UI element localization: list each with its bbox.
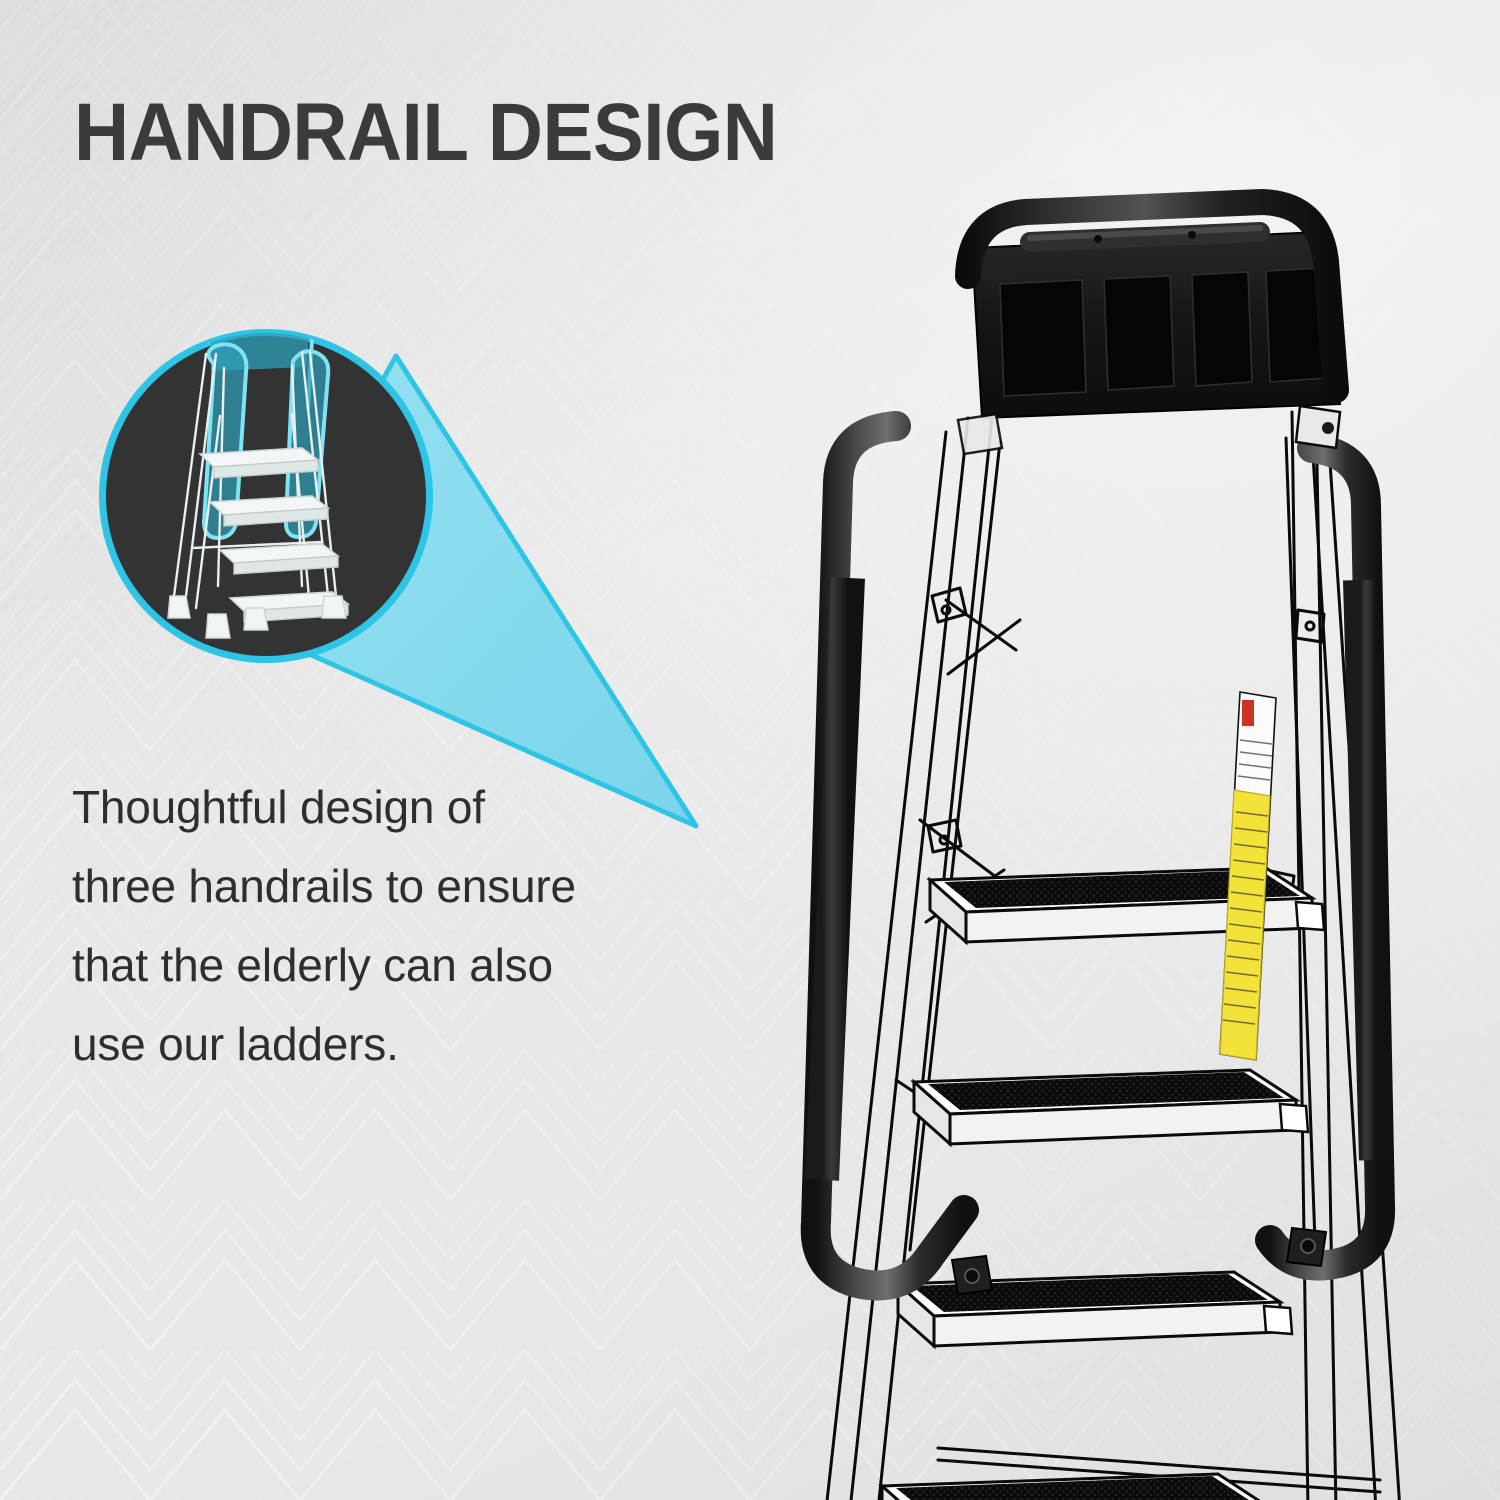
- infographic-canvas: HANDRAIL DESIGN Thoughtful design of thr…: [0, 0, 1500, 1500]
- tool-pouch: [972, 232, 1340, 418]
- product-image: [700, 180, 1500, 1500]
- left-handrail: [816, 426, 992, 1294]
- page-title: HANDRAIL DESIGN: [74, 92, 777, 174]
- handrail-callout: [96, 296, 736, 836]
- pouch-pockets: [1000, 268, 1326, 396]
